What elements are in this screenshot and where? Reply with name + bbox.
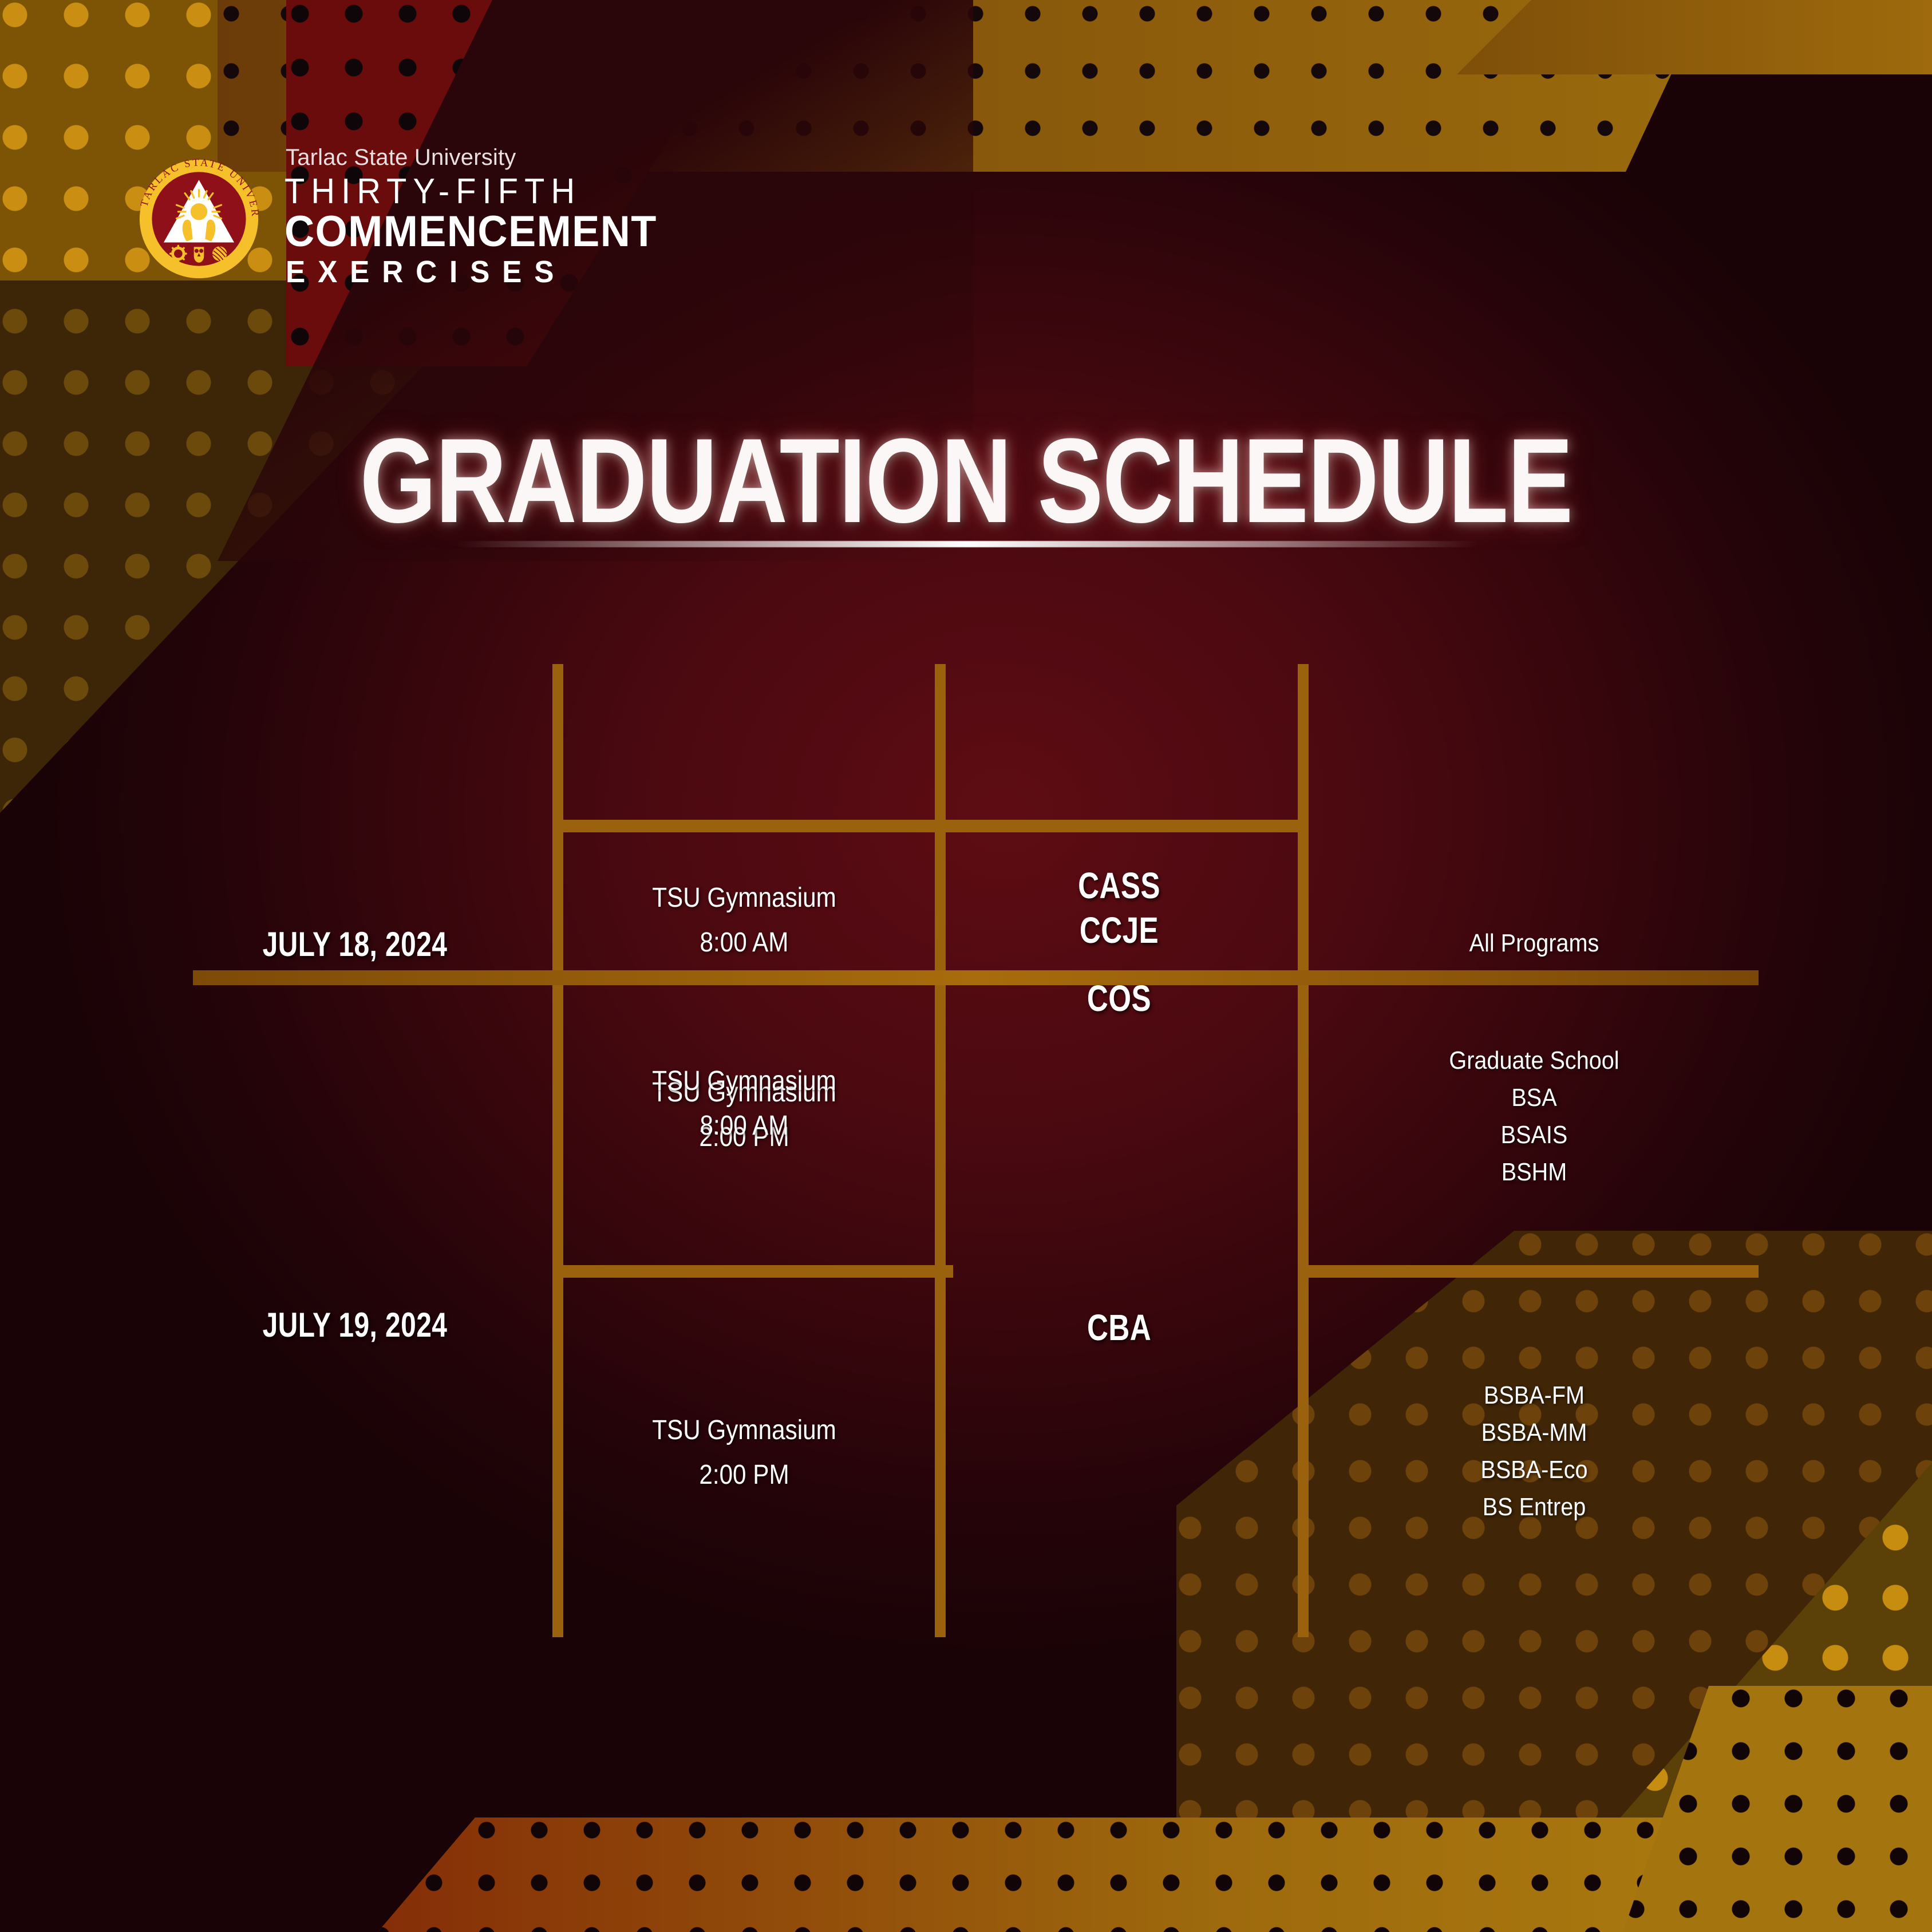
- header-text-block: Tarlac State University THIRTY-FIFTH COM…: [285, 146, 677, 292]
- schedule-venue-july18-am: TSU Gymnasium 8:00 AM: [586, 876, 903, 965]
- grid-hline-day1-venue: [552, 820, 1308, 832]
- schedule-programs-july19-pm: BSBA-FM BSBA-MM BSBA-Eco BS Entrep: [1333, 1377, 1735, 1526]
- schedule-venue-july19-am: TSU Gymnasium 8:00 AM: [586, 1059, 903, 1148]
- top-right-gold-parallelogram: [1457, 0, 1932, 74]
- schedule-programs-july19-am: Graduate School BSA BSAIS BSHM: [1333, 1042, 1735, 1191]
- grid-major-divider: [193, 970, 1759, 985]
- venue-time: 2:00 PM: [586, 1453, 903, 1498]
- schedule-college-july19: CBA: [982, 1305, 1257, 1350]
- commencement-ordinal: THIRTY-FIFTH: [285, 173, 649, 210]
- graduation-schedule-poster: TARLAC STATE UNIVERSITY 1906: [0, 0, 1932, 1932]
- schedule-grid: JULY 18, 2024 TSU Gymnasium 8:00 AM CASS…: [0, 664, 1932, 1637]
- commencement-word: COMMENCEMENT: [285, 210, 657, 254]
- grid-vline-3: [1298, 664, 1309, 1637]
- poster-header: TARLAC STATE UNIVERSITY 1906: [137, 146, 677, 292]
- page-title: GRADUATION SCHEDULE: [359, 421, 1572, 541]
- schedule-college-july18-am: CASS CCJE: [982, 863, 1257, 953]
- grid-hline-day2-venue: [552, 1265, 953, 1278]
- schedule-date-july-19: JULY 19, 2024: [208, 1305, 501, 1345]
- schedule-programs-july18: All Programs: [1333, 924, 1735, 962]
- grid-hline-day2-programs: [1298, 1265, 1759, 1278]
- title-divider-rule: [455, 541, 1480, 547]
- bottom-right-gold-dotted-wedge: [1623, 1686, 1932, 1932]
- schedule-college-july18-pm: COS: [982, 976, 1257, 1021]
- grid-vline-2: [935, 664, 946, 1637]
- venue-name: TSU Gymnasium: [586, 1059, 903, 1104]
- bottom-gradient-dotted-band: [0, 1818, 1932, 1932]
- venue-name: TSU Gymnasium: [586, 876, 903, 920]
- page-title-wrapper: GRADUATION SCHEDULE: [0, 421, 1932, 541]
- venue-time: 8:00 AM: [586, 1104, 903, 1148]
- schedule-date-july-18: JULY 18, 2024: [208, 924, 501, 964]
- exercises-word: EXERCISES: [286, 255, 657, 289]
- grid-vline-1: [552, 664, 563, 1637]
- university-name: Tarlac State University: [286, 146, 677, 169]
- schedule-venue-july19-pm: TSU Gymnasium 2:00 PM: [586, 1408, 903, 1498]
- venue-time: 8:00 AM: [586, 920, 903, 965]
- venue-name: TSU Gymnasium: [586, 1408, 903, 1453]
- tsu-seal-logo-icon: TARLAC STATE UNIVERSITY 1906: [137, 157, 260, 280]
